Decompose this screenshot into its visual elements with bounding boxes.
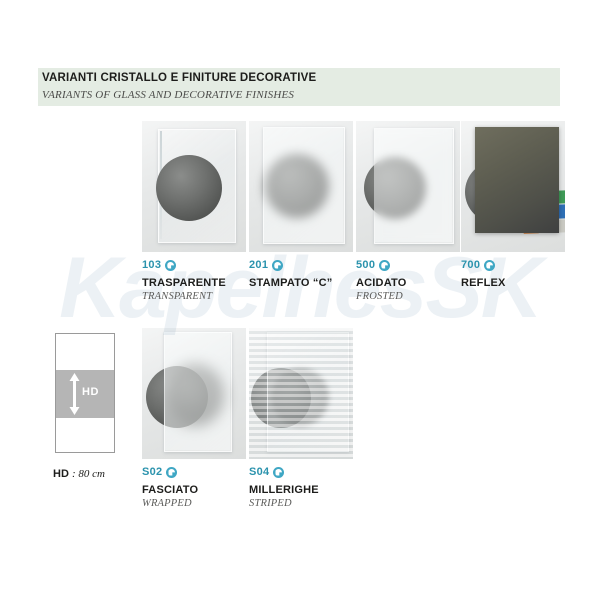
striped-overlay <box>249 328 353 459</box>
frosted-overlay <box>374 128 452 242</box>
swatch-photo <box>142 121 246 252</box>
code-value: S02 <box>142 466 162 478</box>
finish-name-it: STAMPATO “C” <box>249 277 332 289</box>
finish-name-it: TRASPARENTE <box>142 277 226 289</box>
wrapped-overlay <box>164 332 230 450</box>
label-millerighe: S04 MILLERIGHE STRIPED <box>249 465 319 509</box>
code-value: S04 <box>249 466 269 478</box>
droplet-icon <box>272 260 283 271</box>
finish-name-en: FROSTED <box>356 291 407 302</box>
code-row: 103 <box>142 258 226 272</box>
swatch-photo <box>249 121 353 252</box>
droplet-icon <box>165 260 176 271</box>
code-row: S04 <box>249 465 319 479</box>
finish-name-it: ACIDATO <box>356 277 407 289</box>
finish-name-it: MILLERIGHE <box>249 484 319 496</box>
page-subtitle: VARIANTS OF GLASS AND DECORATIVE FINISHE… <box>42 89 294 101</box>
page-title: VARIANTI CRISTALLO E FINITURE DECORATIVE <box>42 72 316 84</box>
label-stampato-c: 201 STAMPATO “C” <box>249 258 332 291</box>
droplet-icon <box>166 467 177 478</box>
swatch-image-acidato[interactable] <box>356 121 460 252</box>
hd-diagram: HD <box>55 333 115 453</box>
droplet-icon <box>379 260 390 271</box>
swatch-image-stampato-c[interactable] <box>249 121 353 252</box>
swatch-photo <box>249 328 353 459</box>
code-value: 700 <box>461 259 480 271</box>
hd-caption-key: HD <box>53 468 69 480</box>
code-value: 103 <box>142 259 161 271</box>
swatch-image-fasciato[interactable] <box>142 328 246 459</box>
swatch-photo <box>461 121 565 252</box>
hd-caption-value: : 80 cm <box>72 468 105 480</box>
hd-double-arrow-icon <box>69 373 80 415</box>
label-acidato: 500 ACIDATO FROSTED <box>356 258 407 302</box>
swatch-image-reflex[interactable] <box>461 121 565 252</box>
swatch-photo <box>142 328 246 459</box>
swatch-image-trasparente[interactable] <box>142 121 246 252</box>
code-row: 700 <box>461 258 506 272</box>
hd-band-label: HD <box>82 386 99 398</box>
code-row: S02 <box>142 465 198 479</box>
finish-name-en: TRANSPARENT <box>142 291 226 302</box>
textured-overlay <box>263 127 343 242</box>
swatch-photo <box>356 121 460 252</box>
droplet-icon <box>273 467 284 478</box>
code-value: 201 <box>249 259 268 271</box>
finish-name-en: STRIPED <box>249 498 319 509</box>
swatch-image-millerighe[interactable] <box>249 328 353 459</box>
bronze-mirror-panel <box>475 127 559 233</box>
label-fasciato: S02 FASCIATO WRAPPED <box>142 465 198 509</box>
droplet-icon <box>484 260 495 271</box>
finish-name-it: REFLEX <box>461 277 506 289</box>
code-row: 201 <box>249 258 332 272</box>
reference-sphere <box>156 155 222 221</box>
hd-caption: HD : 80 cm <box>53 468 105 480</box>
label-trasparente: 103 TRASPARENTE TRANSPARENT <box>142 258 226 302</box>
finish-name-en: WRAPPED <box>142 498 198 509</box>
finish-name-it: FASCIATO <box>142 484 198 496</box>
label-reflex: 700 REFLEX <box>461 258 506 291</box>
code-value: 500 <box>356 259 375 271</box>
code-row: 500 <box>356 258 407 272</box>
